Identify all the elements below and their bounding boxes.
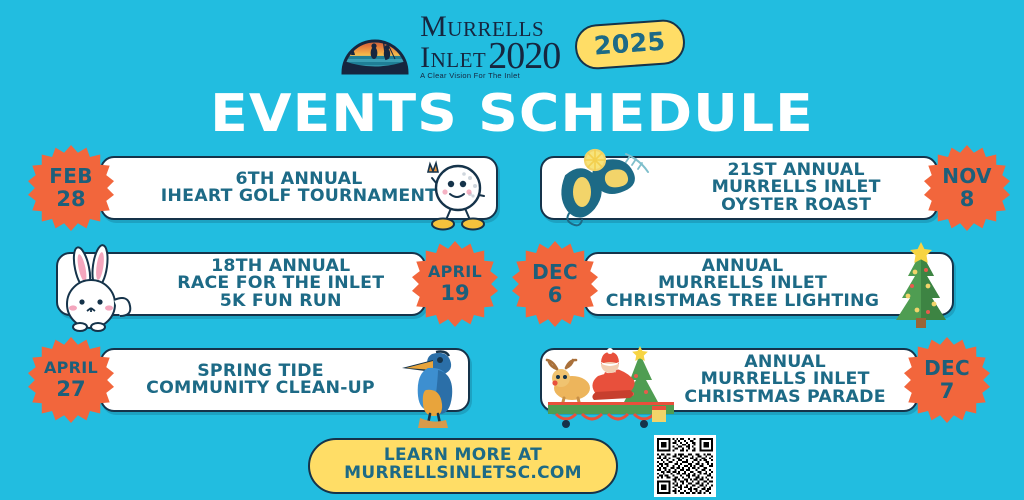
year-badge: 2025 [574, 18, 686, 71]
event-day: 8 [960, 189, 975, 210]
murrells-inlet-sunset-logo-icon [339, 15, 411, 79]
event-date-badge: APRIL 19 [412, 241, 498, 327]
christmas-tree-icon [882, 242, 960, 334]
event-month: DEC [924, 358, 970, 378]
event-date-badge: DEC 7 [904, 337, 990, 423]
page-title: EVENTS SCHEDULE [0, 84, 1024, 144]
event-month: FEB [49, 166, 92, 186]
event-title-line: 5K FUN RUN [140, 293, 422, 311]
event-bar[interactable]: ANNUAL MURRELLS INLET CHRISTMAS PARADE [540, 348, 918, 412]
event-title-line: ANNUAL [657, 354, 914, 372]
event-day: 27 [56, 379, 85, 400]
event-title-line: 18TH ANNUAL [140, 258, 422, 276]
event-bar[interactable]: ANNUAL MURRELLS INLET CHRISTMAS TREE LIG… [584, 252, 954, 316]
event-row[interactable]: APRIL 27 SPRING TIDE COMMUNITY CLEAN-UP [28, 338, 470, 422]
event-date-badge: FEB 28 [28, 145, 114, 231]
event-row[interactable]: ANNUAL MURRELLS INLET CHRISTMAS TREE LIG… [512, 242, 954, 326]
event-day: 6 [548, 285, 563, 306]
event-month: APRIL [428, 264, 482, 280]
event-title-line: 21ST ANNUAL [658, 162, 933, 180]
poster-header: Murrells Inlet 2020 A Clear Vision For T… [0, 8, 1024, 86]
event-date-badge: APRIL 27 [28, 337, 114, 423]
event-row[interactable]: FEB 28 6TH ANNUAL IHEART GOLF TOURNAMENT [28, 146, 498, 230]
event-day: 19 [440, 283, 469, 304]
event-bar[interactable]: SPRING TIDE COMMUNITY CLEAN-UP [100, 348, 470, 412]
event-title: 21ST ANNUAL MURRELLS INLET OYSTER ROAST [538, 162, 940, 215]
brand-line-2: Inlet [420, 45, 486, 71]
event-month: APRIL [44, 360, 98, 376]
event-month: DEC [532, 262, 578, 282]
events-grid: FEB 28 6TH ANNUAL IHEART GOLF TOURNAMENT [0, 146, 1024, 426]
event-title-line: OYSTER ROAST [658, 197, 933, 215]
event-month: NOV [942, 166, 992, 186]
brand-wordmark: Murrells Inlet 2020 A Clear Vision For T… [420, 14, 560, 79]
brand-tagline: A Clear Vision For The Inlet [420, 73, 560, 80]
event-title-line: SPRING TIDE [104, 363, 416, 381]
event-title-line: COMMUNITY CLEAN-UP [104, 380, 416, 398]
event-bar[interactable]: 18TH ANNUAL RACE FOR THE INLET 5K FUN RU… [56, 252, 426, 316]
learn-more-button[interactable]: LEARN MORE AT MURRELLSINLETSC.COM [308, 438, 618, 494]
event-bar[interactable]: 6TH ANNUAL IHEART GOLF TOURNAMENT [100, 156, 498, 220]
brand-year-mark: 2020 [488, 41, 560, 71]
event-title-line: CHRISTMAS PARADE [657, 389, 914, 407]
cta-line-2: MURRELLSINLETSC.COM [344, 465, 582, 483]
qr-code-icon[interactable] [654, 435, 716, 497]
poster-footer: LEARN MORE AT MURRELLSINLETSC.COM [0, 436, 1024, 496]
event-date-badge: DEC 6 [512, 241, 598, 327]
event-title: 18TH ANNUAL RACE FOR THE INLET 5K FUN RU… [54, 258, 427, 311]
kingfisher-bird-icon [392, 334, 464, 430]
event-bar[interactable]: 21ST ANNUAL MURRELLS INLET OYSTER ROAST [540, 156, 938, 220]
event-row[interactable]: 18TH ANNUAL RACE FOR THE INLET 5K FUN RU… [56, 242, 498, 326]
event-row[interactable]: DEC 7 [540, 338, 990, 422]
event-title: ANNUAL MURRELLS INLET CHRISTMAS PARADE [538, 354, 919, 407]
event-title-line: CHRISTMAS TREE LIGHTING [588, 293, 896, 311]
events-schedule-poster: Murrells Inlet 2020 A Clear Vision For T… [0, 0, 1024, 500]
event-day: 28 [56, 189, 85, 210]
event-row[interactable]: NOV 8 [540, 146, 1010, 230]
golf-ball-mascot-icon [412, 146, 504, 238]
event-day: 7 [940, 381, 955, 402]
event-title-line: ANNUAL [588, 258, 896, 276]
event-date-badge: NOV 8 [924, 145, 1010, 231]
